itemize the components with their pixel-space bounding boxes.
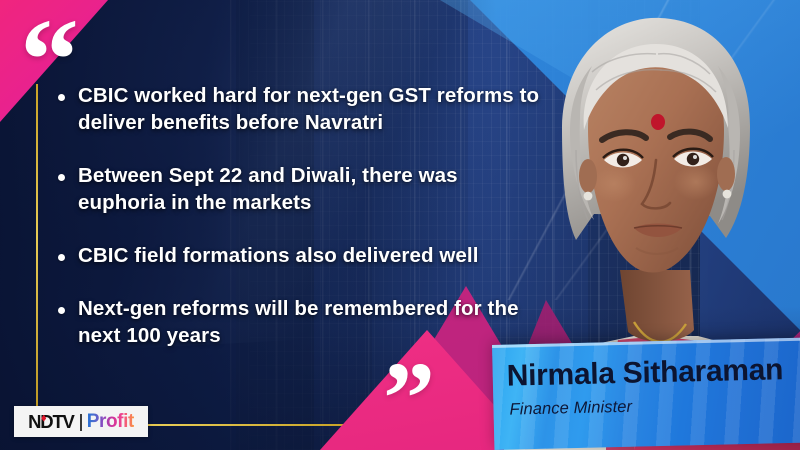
- speaker-name: Nirmala Sitharaman: [506, 353, 783, 394]
- list-item: CBIC worked hard for next-gen GST reform…: [58, 82, 548, 136]
- bullet-dot-icon: [58, 254, 65, 261]
- logo-divider: [80, 414, 82, 431]
- bullet-text: CBIC worked hard for next-gen GST reform…: [78, 82, 548, 136]
- list-item: Next-gen reforms will be remembered for …: [58, 295, 548, 349]
- quote-bullet-list: CBIC worked hard for next-gen GST reform…: [58, 82, 548, 349]
- logo-ndtv-tv: TV: [52, 411, 73, 433]
- close-quote-icon: ”: [383, 362, 433, 437]
- bullet-text: Between Sept 22 and Diwali, there was eu…: [78, 162, 548, 216]
- list-item: Between Sept 22 and Diwali, there was eu…: [58, 162, 548, 216]
- list-item: CBIC field formations also delivered wel…: [58, 242, 548, 269]
- logo-ndtv-wordmark: NDTV: [28, 411, 74, 433]
- bullet-text: Next-gen reforms will be remembered for …: [78, 295, 548, 349]
- quote-card: “ ” CBIC worked hard for next-gen GST re…: [0, 0, 800, 450]
- logo-ndtv-d-mark: D: [40, 411, 52, 433]
- bullet-dot-icon: [58, 307, 65, 314]
- ndtv-profit-logo[interactable]: NDTV Profit: [14, 406, 148, 437]
- speaker-nameplate: Nirmala Sitharaman Finance Minister: [492, 337, 800, 450]
- decor-gold-vertical-rule: [36, 84, 38, 426]
- logo-profit-wordmark: Profit: [87, 411, 134, 433]
- speaker-title: Finance Minister: [509, 398, 632, 420]
- bullet-text: CBIC field formations also delivered wel…: [78, 242, 479, 269]
- bullet-dot-icon: [58, 174, 65, 181]
- bullet-dot-icon: [58, 94, 65, 101]
- logo-ndtv-n: N: [28, 411, 40, 433]
